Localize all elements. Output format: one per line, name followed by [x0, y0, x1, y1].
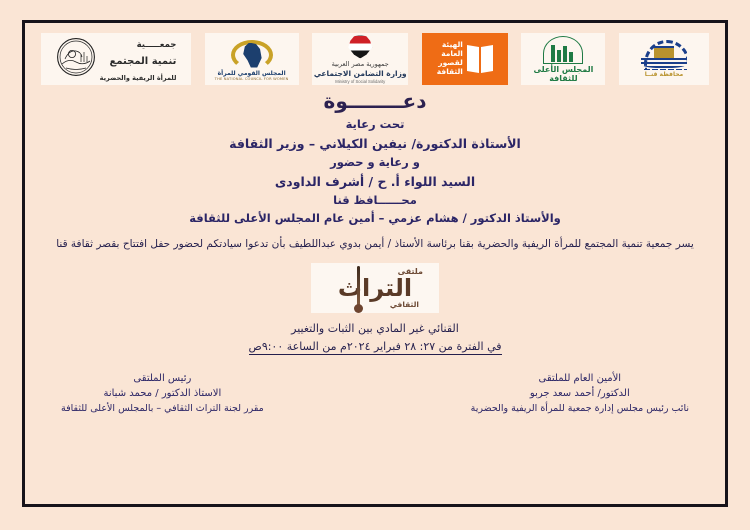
- flute-icon: [357, 266, 360, 310]
- invitation-page: جمعـــــية تنمية المجتمع للمرأة الريفية …: [0, 0, 750, 530]
- left-signature-role: الأمين العام للملتقى: [471, 371, 689, 387]
- culture-arch-icon: [543, 36, 583, 64]
- gacp-line-2: العامة: [441, 49, 463, 58]
- heritage-top-word: ملتقى: [398, 267, 423, 276]
- qena-governorate-logo: محافظة قنــا: [619, 33, 709, 85]
- invitation-body-paragraph: يسر جمعية تنمية المجتمع للمرأة الريفية و…: [55, 237, 695, 253]
- ncw-emblem-icon: [231, 40, 273, 70]
- page-title: دعــــــــوة: [35, 89, 715, 113]
- logo-strip: جمعـــــية تنمية المجتمع للمرأة الريفية …: [35, 29, 715, 87]
- ncw-english-name: THE NATIONAL COUNCIL FOR WOMEN: [215, 77, 289, 81]
- ministry-country-line: جمهورية مصر العربية: [332, 60, 389, 68]
- and-attendance-label: و رعاية و حضور: [35, 155, 715, 169]
- ministry-of-social-solidarity-logo: جمهورية مصر العربية وزارة التضامن الاجتم…: [312, 33, 408, 85]
- signature-right: رئيس الملتقى الاستاذ الدكتور / محمد شبان…: [61, 371, 264, 417]
- general-authority-for-cultural-palaces-logo: الهيئة العامة لقصور الثقافة: [422, 33, 508, 85]
- community-development-association-logo: جمعـــــية تنمية المجتمع للمرأة الريفية …: [41, 33, 191, 85]
- open-book-icon: [467, 44, 493, 74]
- scc-arabic-name: المجلس الأعلى للثقافة: [521, 65, 605, 83]
- third-patron-name: والأستاذ الدكتور / هشام عزمي – أمين عام …: [35, 211, 715, 225]
- document-content: جمعـــــية تنمية المجتمع للمرأة الريفية …: [25, 23, 725, 504]
- signature-left: الأمين العام للملتقى الدكتور/ أحمد سعد ج…: [471, 371, 689, 417]
- patron-name: الأستاذة الدكتورة/ نيفين الكيلاني – وزير…: [35, 136, 715, 151]
- attendee-role: محــــــافظ قنا: [35, 193, 715, 207]
- heritage-main-word: التراث: [338, 276, 412, 300]
- association-logo-text: جمعـــــية تنمية المجتمع للمرأة الريفية …: [100, 34, 177, 84]
- gacp-line-3: لقصور: [438, 58, 463, 67]
- right-signature-name: الاستاذ الدكتور / محمد شبانة: [61, 386, 264, 402]
- egypt-eagle-icon: [347, 35, 373, 59]
- left-signature-name: الدكتور/ أحمد سعد جربو: [471, 386, 689, 402]
- heritage-logo-wrapper: ملتقى التراث الثقافي: [35, 263, 715, 313]
- cultural-heritage-forum-logo: ملتقى التراث الثقافي: [311, 263, 439, 313]
- association-line-3: للمرأة الريفية والحضرية: [100, 74, 177, 82]
- national-council-for-women-logo: المجلس القومي للمرأة THE NATIONAL COUNCI…: [205, 33, 299, 85]
- document-border-frame: جمعـــــية تنمية المجتمع للمرأة الريفية …: [22, 20, 728, 507]
- qena-emblem-icon: [641, 40, 687, 70]
- attendee-name: السيد اللواء أ. ح / أشرف الداودى: [35, 174, 715, 189]
- supreme-council-of-culture-logo: المجلس الأعلى للثقافة: [521, 33, 605, 85]
- ministry-arabic-name: وزارة التضامن الاجتماعي: [314, 69, 407, 78]
- ministry-english-name: Ministry of Social Solidarity: [335, 79, 385, 84]
- association-medallion-icon: [56, 37, 96, 81]
- under-patronage-label: تحت رعاية: [35, 117, 715, 131]
- gacp-line-4: الثقافة: [437, 67, 463, 76]
- gacp-logo-text: الهيئة العامة لقصور الثقافة: [437, 41, 463, 76]
- ncw-arabic-name: المجلس القومي للمرأة: [218, 70, 286, 77]
- signature-block: رئيس الملتقى الاستاذ الدكتور / محمد شبان…: [35, 371, 715, 417]
- event-title: القنائي غير المادي بين الثبات والتغيير: [35, 322, 715, 335]
- association-line-1: جمعـــــية: [137, 40, 177, 50]
- gacp-line-1: الهيئة: [442, 40, 463, 49]
- event-date-range: في الفترة من ٢٧: ٢٨ فبراير ٢٠٢٤م من السا…: [249, 340, 502, 355]
- right-signature-subtitle: مقرر لجنة التراث الثقافي – بالمجلس الأعل…: [61, 402, 264, 417]
- association-line-2: تنمية المجتمع: [110, 56, 177, 67]
- right-signature-role: رئيس الملتقى: [61, 371, 264, 387]
- left-signature-subtitle: نائب رئيس مجلس إدارة جمعية للمرأة الريفي…: [471, 402, 689, 417]
- heritage-bottom-word: الثقافي: [390, 300, 419, 309]
- qena-arabic-name: محافظة قنــا: [645, 71, 684, 78]
